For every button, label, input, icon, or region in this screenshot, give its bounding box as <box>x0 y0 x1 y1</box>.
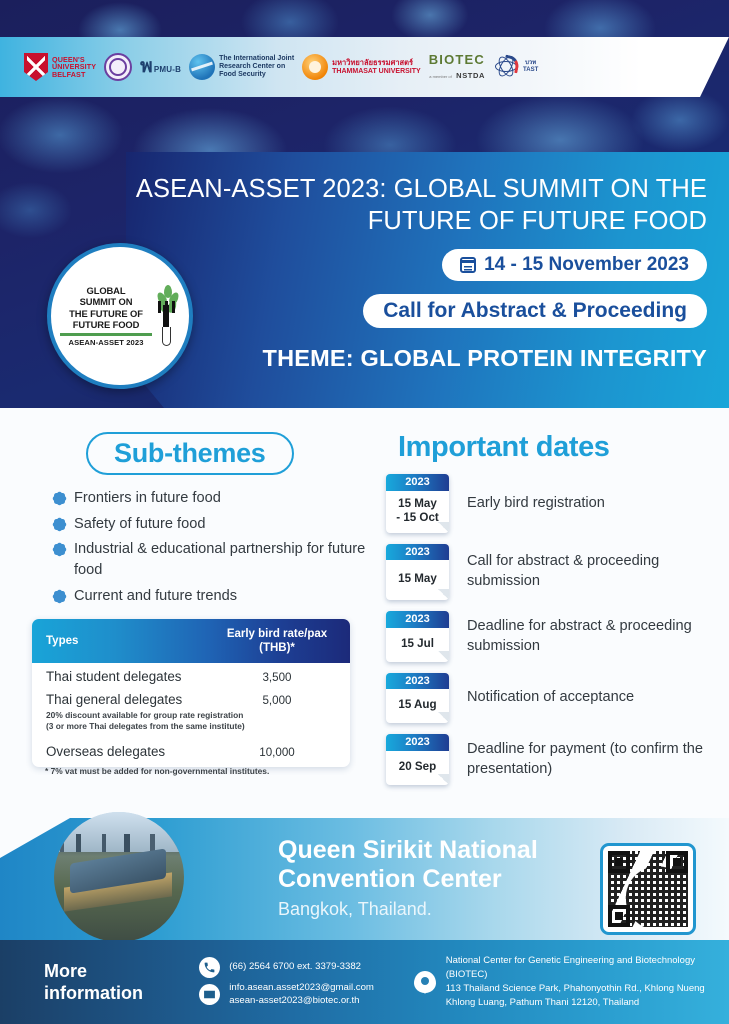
calendar-icon <box>460 257 476 273</box>
fork-wheat-test-tube-icon <box>154 285 180 347</box>
date-description: Early bird registration <box>467 494 605 514</box>
cell-rate: 5,000 <box>218 694 336 707</box>
address-block: National Center for Genetic Engineering … <box>414 954 729 1009</box>
date-card-year: 2023 <box>386 611 449 628</box>
thammasat-english: THAMMASAT UNIVERSITY <box>332 68 421 75</box>
list-item: Current and future trends <box>54 586 384 607</box>
contact-details: (66) 2564 6700 ext. 3379-3382 info.asean… <box>199 953 397 1011</box>
subtheme-label: Industrial & educational partnership for… <box>74 539 384 580</box>
date-card: 2023 15 Jul <box>386 611 449 662</box>
important-dates-heading: Important dates <box>398 431 610 464</box>
more-information-heading: More information <box>44 960 189 1005</box>
date-description: Deadline for payment (to confirm the pre… <box>467 740 716 779</box>
cell-rate: 10,000 <box>218 746 336 759</box>
list-item: Industrial & educational partnership for… <box>54 539 384 580</box>
convention-center-photo <box>54 812 184 942</box>
registration-rate-table: Types Early bird rate/pax (THB)* Thai st… <box>32 619 350 767</box>
ijrc-line3: Food Security <box>219 71 294 79</box>
logo-international-joint-research-center: The International Joint Research Center … <box>189 54 294 80</box>
date-card: 2023 15 May- 15 Oct <box>386 474 449 533</box>
footer-contact-bar: More information (66) 2564 6700 ext. 337… <box>0 940 729 1024</box>
email-secondary: asean-asset2023@biotec.or.th <box>229 995 359 1006</box>
date-card-year: 2023 <box>386 544 449 561</box>
call-for-abstract-pill: Call for Abstract & Proceeding <box>363 294 707 328</box>
logo-tast: บวท TAST <box>493 55 538 79</box>
subthemes-heading-label: Sub-themes <box>114 438 266 468</box>
sponsor-logo-banner: QUEEN'S UNIVERSITY BELFAST พ PMU-B The I… <box>0 37 729 97</box>
date-card-year: 2023 <box>386 734 449 751</box>
logo-purple-seal <box>104 53 132 81</box>
list-item: 2023 20 Sep Deadline for payment (to con… <box>386 734 716 785</box>
date-card-year: 2023 <box>386 474 449 491</box>
address-line1: National Center for Genetic Engineering … <box>446 955 695 980</box>
date-card: 2023 15 May <box>386 544 449 601</box>
subtheme-label: Frontiers in future food <box>74 488 221 509</box>
date-card-date: 15 May <box>386 560 449 600</box>
badge-line2: SUMMIT ON <box>60 296 152 307</box>
list-item: 2023 15 May Call for abstract & proceedi… <box>386 544 716 601</box>
badge-line1: GLOBAL <box>60 285 152 296</box>
queens-shield-icon <box>24 53 48 81</box>
column-header-rate: Early bird rate/pax (THB)* <box>218 627 336 655</box>
date-card: 2023 20 Sep <box>386 734 449 785</box>
table-row: Overseas delegates 10,000 <box>32 738 350 761</box>
tast-label: TAST <box>523 67 538 74</box>
purple-seal-icon <box>104 53 132 81</box>
list-item: Frontiers in future food <box>54 488 384 509</box>
pmu-label: PMU-B <box>154 65 181 75</box>
phone-number: (66) 2564 6700 ext. 3379-3382 <box>229 961 361 974</box>
email-row: info.asean.asset2023@gmail.com asean-ass… <box>199 982 397 1007</box>
list-item: 2023 15 May- 15 Oct Early bird registrat… <box>386 474 716 533</box>
phone-row: (66) 2564 6700 ext. 3379-3382 <box>199 957 397 978</box>
date-description: Notification of acceptance <box>467 688 634 708</box>
subthemes-heading: Sub-themes <box>86 432 294 475</box>
ijrc-line1: The International Joint <box>219 55 294 63</box>
event-logo-badge: GLOBAL SUMMIT ON THE FUTURE OF FUTURE FO… <box>47 243 193 389</box>
date-description: Call for abstract & proceeding submissio… <box>467 552 716 591</box>
tast-thai: บวท <box>523 60 538 67</box>
nstda-label: NSTDA <box>456 71 485 80</box>
email-primary: info.asean.asset2023@gmail.com <box>229 982 374 993</box>
date-card-date: 15 Aug <box>386 689 449 723</box>
venue-text: Queen Sirikit National Convention Center… <box>278 836 538 920</box>
call-for-abstract-label: Call for Abstract & Proceeding <box>383 299 687 323</box>
badge-line3: THE FUTURE OF <box>60 308 152 319</box>
table-footnote: * 7% vat must be added for non-governmen… <box>45 766 365 776</box>
date-card: 2023 15 Aug <box>386 673 449 724</box>
phone-icon <box>199 957 220 978</box>
page-title: ASEAN-ASSET 2023: GLOBAL SUMMIT ON THE F… <box>107 174 707 237</box>
column-header-types: Types <box>46 635 218 647</box>
subtheme-label: Current and future trends <box>74 586 237 607</box>
logo-biotec-nstda: BIOTEC a member of NSTDA <box>429 53 485 82</box>
qr-code[interactable] <box>600 843 696 935</box>
atom-icon <box>493 55 519 79</box>
list-item: Safety of future food <box>54 514 384 535</box>
date-card-date: 15 May- 15 Oct <box>386 491 449 533</box>
flower-bullet-icon <box>54 591 65 602</box>
subthemes-list: Frontiers in future food Safety of futur… <box>54 488 384 612</box>
group-discount-note: 20% discount available for group rate re… <box>32 709 350 738</box>
address-line3: Khlong Luang, Pathum Thani 12120, Thaila… <box>446 997 640 1008</box>
flower-bullet-icon <box>54 493 65 504</box>
email-icon <box>199 984 220 1005</box>
date-pill: 14 - 15 November 2023 <box>442 249 707 281</box>
list-item: 2023 15 Aug Notification of acceptance <box>386 673 716 724</box>
more-info-line1: More <box>44 960 189 983</box>
more-info-line2: information <box>44 982 189 1005</box>
cell-type: Thai general delegates <box>46 692 218 707</box>
cell-rate: 3,500 <box>218 671 336 684</box>
nstda-prefix: a member of <box>429 74 451 79</box>
badge-subtitle: ASEAN-ASSET 2023 <box>60 338 152 347</box>
flower-bullet-icon <box>54 544 65 555</box>
pmu-glyph-icon: พ <box>140 59 153 75</box>
location-pin-icon <box>414 971 436 993</box>
thammasat-thai: มหาวิทยาลัยธรรมศาสตร์ <box>332 59 421 67</box>
venue-name-line1: Queen Sirikit National <box>278 836 538 865</box>
badge-line4: FUTURE FOOD <box>60 319 152 330</box>
date-card-date: 15 Jul <box>386 628 449 662</box>
cell-type: Thai student delegates <box>46 669 218 684</box>
logo-queens-university-belfast: QUEEN'S UNIVERSITY BELFAST <box>24 53 96 81</box>
flower-bullet-icon <box>54 519 65 530</box>
date-description: Deadline for abstract & proceeding submi… <box>467 617 716 656</box>
important-dates-heading-label: Important dates <box>398 431 610 463</box>
table-row: Thai student delegates 3,500 <box>32 663 350 686</box>
cell-type: Overseas delegates <box>46 744 218 759</box>
list-item: 2023 15 Jul Deadline for abstract & proc… <box>386 611 716 662</box>
venue-name-line2: Convention Center <box>278 865 538 894</box>
important-dates-list: 2023 15 May- 15 Oct Early bird registrat… <box>386 474 716 796</box>
subtheme-label: Safety of future food <box>74 514 205 535</box>
logo-thammasat-university: มหาวิทยาลัยธรรมศาสตร์ THAMMASAT UNIVERSI… <box>302 54 421 80</box>
venue-location: Bangkok, Thailand. <box>278 899 538 920</box>
logo-pmu-b: พ PMU-B <box>140 59 181 75</box>
date-card-date: 20 Sep <box>386 751 449 785</box>
thammasat-seal-icon <box>302 54 328 80</box>
ijrc-line2: Research Center on <box>219 63 294 71</box>
date-card-year: 2023 <box>386 673 449 690</box>
qub-line3: BELFAST <box>52 71 96 78</box>
badge-divider <box>60 333 152 336</box>
theme-label: THEME: GLOBAL PROTEIN INTEGRITY <box>263 345 707 372</box>
table-row: Thai general delegates 5,000 <box>32 686 350 709</box>
address-line2: 113 Thailand Science Park, Phahonyothin … <box>446 983 705 994</box>
globe-icon <box>189 54 215 80</box>
date-pill-label: 14 - 15 November 2023 <box>484 254 689 276</box>
biotec-label: BIOTEC <box>429 53 485 66</box>
table-header-row: Types Early bird rate/pax (THB)* <box>32 619 350 663</box>
